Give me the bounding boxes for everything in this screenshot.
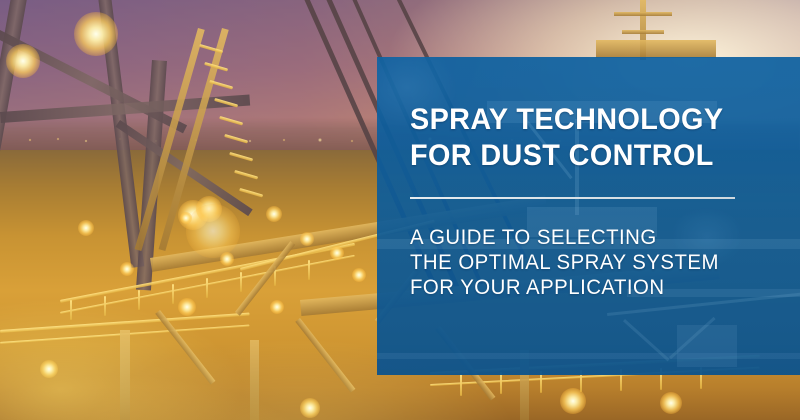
subtitle: A GUIDE TO SELECTING THE OPTIMAL SPRAY S… (410, 225, 759, 300)
subtitle-line-3: FOR YOUR APPLICATION (410, 275, 759, 300)
blue-overlay-panel: SPRAY TECHNOLOGY FOR DUST CONTROL A GUID… (377, 57, 800, 375)
banner-copy: SPRAY TECHNOLOGY FOR DUST CONTROL A GUID… (410, 102, 770, 300)
headline-divider (410, 197, 735, 199)
headline-line-2: FOR DUST CONTROL (410, 138, 756, 174)
subtitle-line-1: A GUIDE TO SELECTING (410, 225, 759, 250)
subtitle-line-2: THE OPTIMAL SPRAY SYSTEM (410, 250, 759, 275)
flood-lamp (6, 44, 40, 78)
promotional-banner: SPRAY TECHNOLOGY FOR DUST CONTROL A GUID… (0, 0, 800, 420)
flood-lamp (74, 12, 118, 56)
headline-line-1: SPRAY TECHNOLOGY (410, 102, 756, 138)
ship-superstructure (596, 40, 716, 58)
ship-crossarm (614, 12, 672, 16)
ship-crossarm (622, 30, 664, 34)
